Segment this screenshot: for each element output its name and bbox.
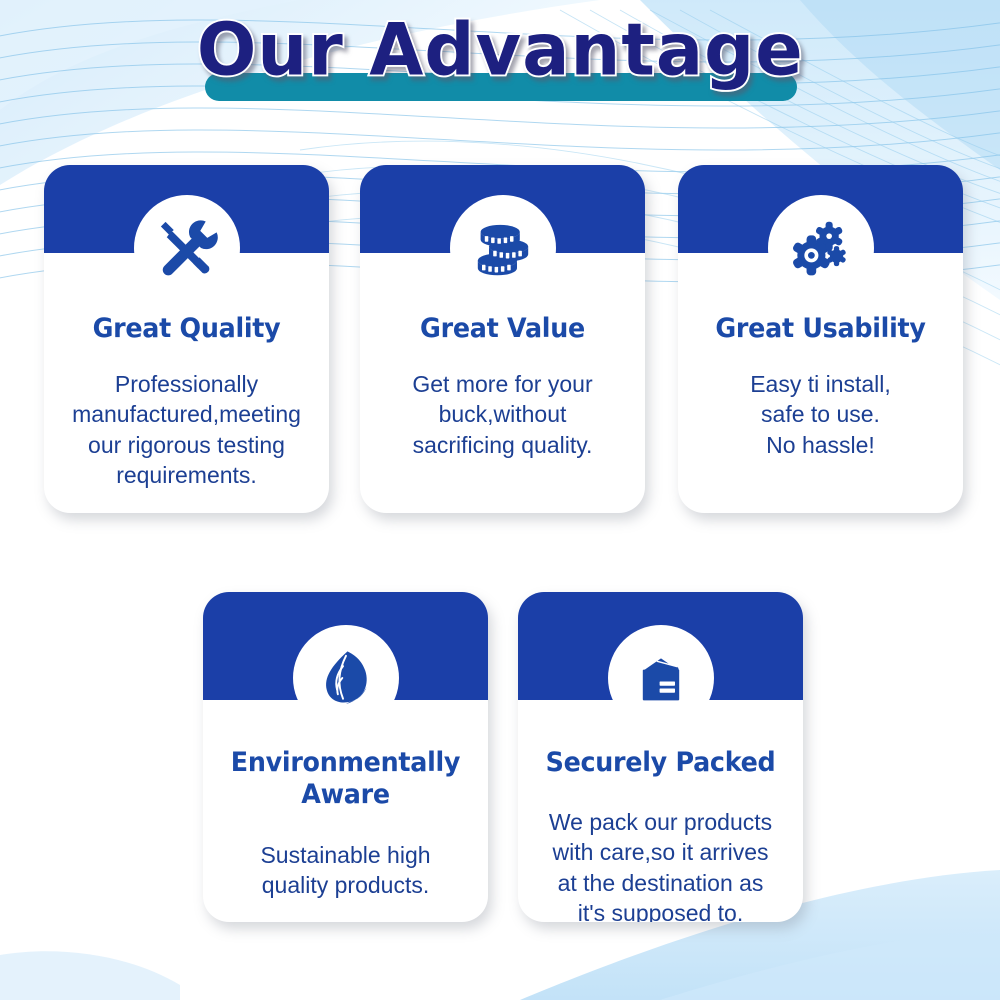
card-title: Great Value — [369, 313, 637, 345]
card-description: Professionally manufactured,meeting our … — [44, 369, 329, 490]
card-title: Environmentally Aware — [212, 747, 480, 811]
advantage-card-environmentally-aware[interactable]: Environmentally Aware Sustainable high q… — [203, 592, 488, 922]
advantage-card-great-quality[interactable]: Great Quality Professionally manufacture… — [44, 165, 329, 513]
stacked-coins-icon — [450, 195, 556, 301]
page-title: Our Advantage — [197, 14, 804, 87]
card-description: Easy ti install, safe to use. No hassle! — [678, 369, 963, 460]
advantage-card-great-value[interactable]: Great Value Get more for your buck,witho… — [360, 165, 645, 513]
advantage-card-great-usability[interactable]: Great Usability Easy ti install, safe to… — [678, 165, 963, 513]
card-description: Sustainable high quality products. — [203, 840, 488, 901]
gears-icon — [768, 195, 874, 301]
card-title: Great Quality — [53, 313, 321, 345]
advantage-card-securely-packed[interactable]: Securely Packed We pack our products wit… — [518, 592, 803, 922]
card-description: Get more for your buck,without sacrifici… — [360, 369, 645, 460]
package-box-icon — [608, 625, 714, 731]
card-description: We pack our products with care,so it arr… — [518, 807, 803, 922]
card-title: Great Usability — [687, 313, 955, 345]
page-header: Our Advantage — [0, 14, 1000, 100]
card-title: Securely Packed — [527, 747, 795, 779]
leaf-icon — [293, 625, 399, 731]
tools-wrench-screwdriver-icon — [134, 195, 240, 301]
page-title-wrapper: Our Advantage — [0, 14, 1000, 80]
